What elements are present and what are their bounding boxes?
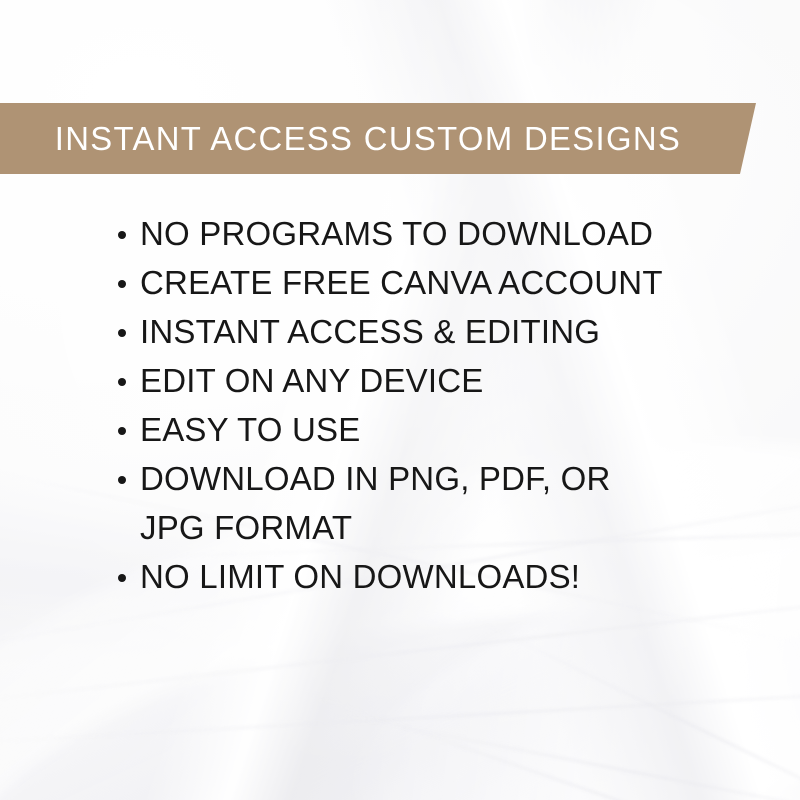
page-title: INSTANT ACCESS CUSTOM DESIGNS — [0, 122, 681, 155]
bullet-dot-icon — [118, 574, 126, 582]
bullet-dot-icon — [118, 427, 126, 435]
list-item: NO LIMIT ON DOWNLOADS! — [0, 552, 800, 601]
list-item-label: EDIT ON ANY DEVICE — [140, 356, 740, 405]
bullet-dot-icon — [118, 280, 126, 288]
header-banner: INSTANT ACCESS CUSTOM DESIGNS — [0, 103, 760, 174]
bullet-dot-icon — [118, 476, 126, 484]
list-item-label: EASY TO USE — [140, 405, 740, 454]
bullet-dot-icon — [118, 231, 126, 239]
list-item: INSTANT ACCESS & EDITING — [0, 307, 800, 356]
feature-list: NO PROGRAMS TO DOWNLOAD CREATE FREE CANV… — [0, 209, 800, 601]
bullet-dot-icon — [118, 329, 126, 337]
list-item-label: DOWNLOAD IN PNG, PDF, OR JPG FORMAT — [140, 454, 680, 552]
list-item: EASY TO USE — [0, 405, 800, 454]
list-item: CREATE FREE CANVA ACCOUNT — [0, 258, 800, 307]
promo-poster: INSTANT ACCESS CUSTOM DESIGNS NO PROGRAM… — [0, 0, 800, 800]
list-item: DOWNLOAD IN PNG, PDF, OR JPG FORMAT — [0, 454, 800, 552]
list-item: NO PROGRAMS TO DOWNLOAD — [0, 209, 800, 258]
list-item-label: CREATE FREE CANVA ACCOUNT — [140, 258, 740, 307]
list-item-label: NO LIMIT ON DOWNLOADS! — [140, 552, 740, 601]
bullet-dot-icon — [118, 378, 126, 386]
list-item-label: INSTANT ACCESS & EDITING — [140, 307, 740, 356]
list-item-label: NO PROGRAMS TO DOWNLOAD — [140, 209, 740, 258]
list-item: EDIT ON ANY DEVICE — [0, 356, 800, 405]
